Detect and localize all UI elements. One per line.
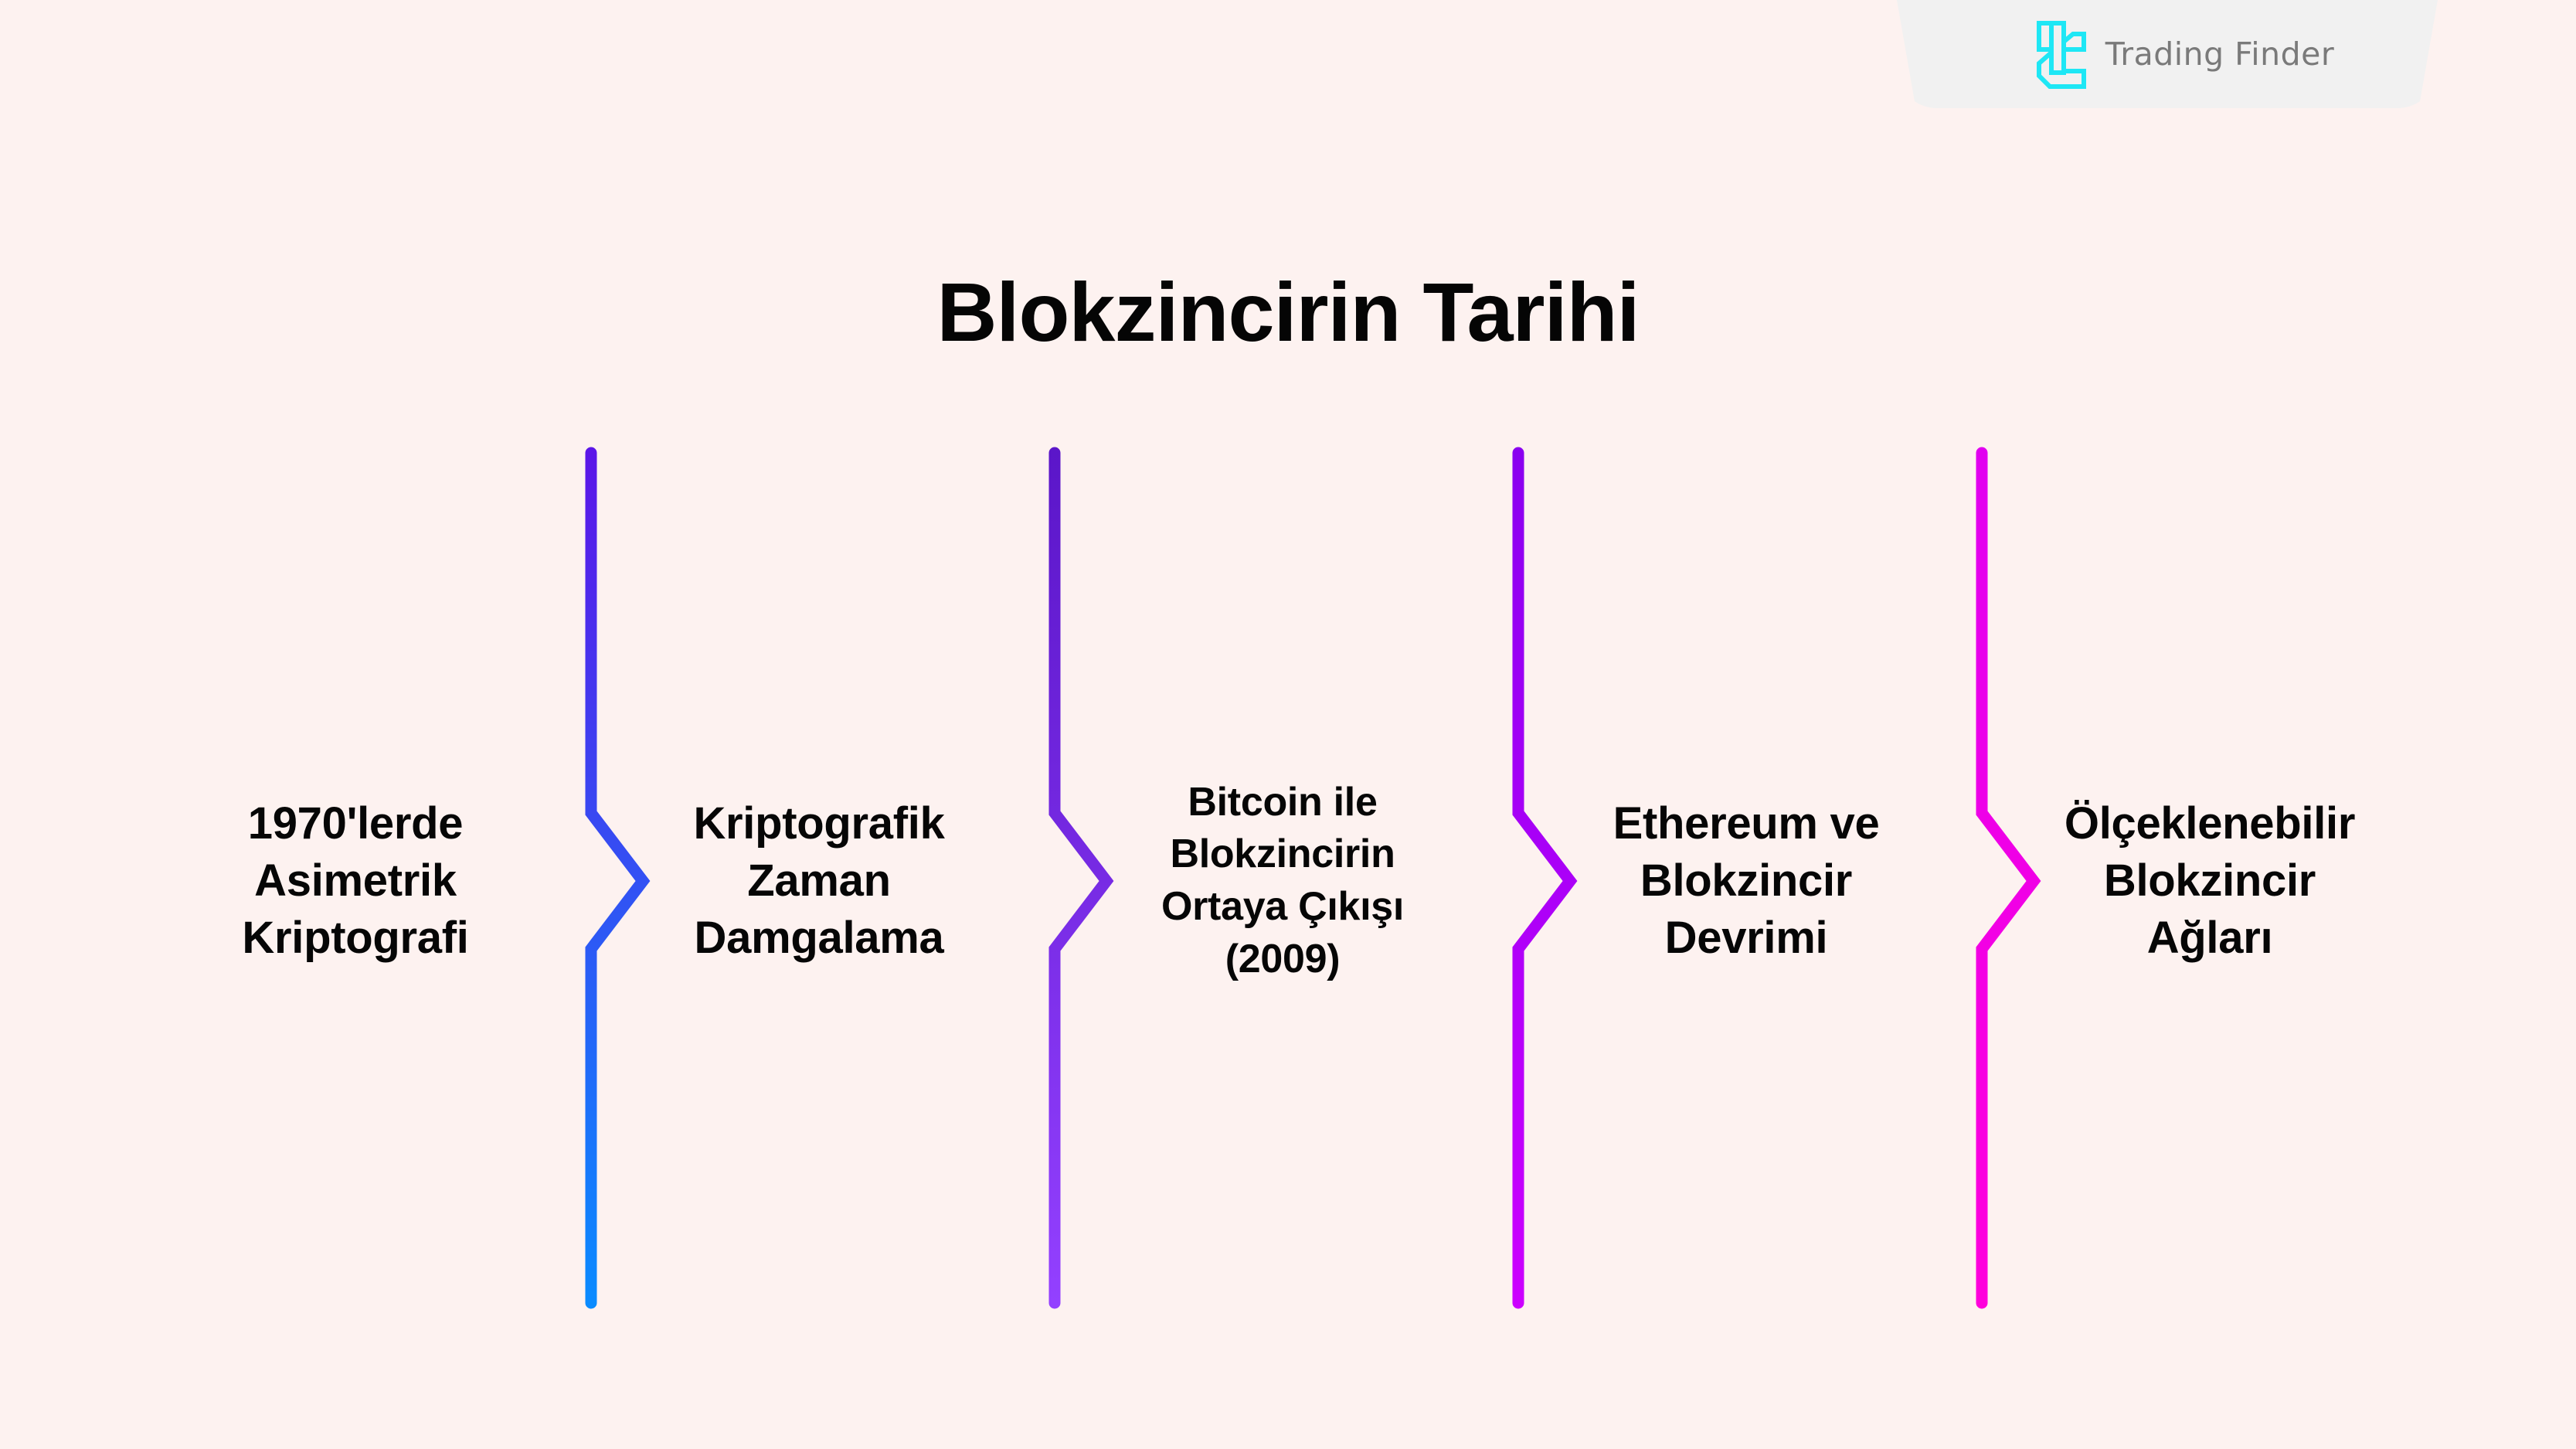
stage-3: Bitcoin ile Blokzincirin Ortaya Çıkışı (…	[1066, 433, 1499, 1329]
stage-5-line-3: Ağları	[2147, 910, 2273, 967]
stage-2-line-3: Damgalama	[695, 910, 944, 967]
stage-3-line-3: Ortaya Çıkışı	[1161, 881, 1404, 934]
stage-3-line-2: Blokzincirin	[1170, 828, 1395, 881]
divider-6	[2403, 433, 2557, 1329]
stage-4-line-3: Devrimi	[1665, 910, 1828, 967]
stage-5-line-2: Blokzincir	[2104, 852, 2316, 910]
stage-2-line-2: Zaman	[747, 852, 890, 910]
stage-4-line-1: Ethereum ve	[1613, 795, 1880, 852]
stage-2-line-1: Kriptografik	[693, 795, 944, 852]
brand-badge: Trading Finder	[1897, 0, 2438, 108]
stage-1: 1970'lerde Asimetrik Kriptografi	[139, 433, 572, 1329]
stage-1-line-2: Asimetrik	[254, 852, 457, 910]
page-title: Blokzincirin Tarihi	[0, 267, 2576, 359]
stage-4-line-2: Blokzincir	[1640, 852, 1852, 910]
stage-3-line-4: (2009)	[1225, 934, 1341, 986]
brand-name: Trading Finder	[2105, 36, 2335, 73]
stage-5-line-1: Ölçeklenebilir	[2065, 795, 2355, 852]
stage-3-line-1: Bitcoin ile	[1188, 777, 1377, 829]
stage-1-line-1: 1970'lerde	[248, 795, 463, 852]
timeline: 1970'lerde Asimetrik Kriptografi Kriptog…	[0, 433, 2576, 1329]
stage-5: Ölçeklenebilir Blokzincir Ağları	[1993, 433, 2426, 1329]
stage-2: Kriptografik Zaman Damgalama	[603, 433, 1035, 1329]
trading-finder-logo-icon	[2028, 19, 2088, 90]
stage-4: Ethereum ve Blokzincir Devrimi	[1530, 433, 1963, 1329]
stage-1-line-3: Kriptografi	[242, 910, 468, 967]
